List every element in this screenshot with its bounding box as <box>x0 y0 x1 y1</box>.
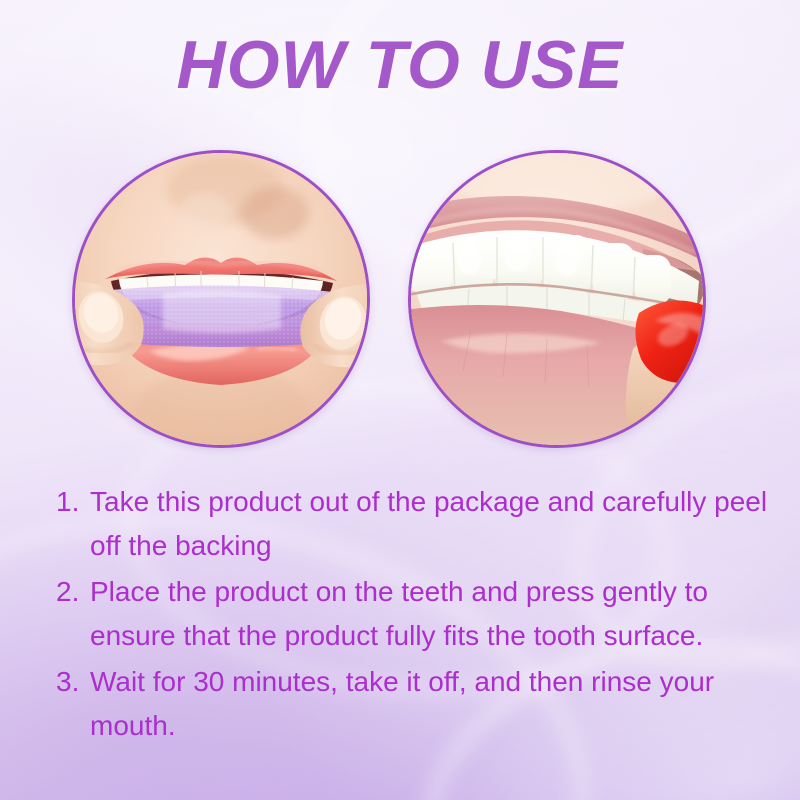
step-number: 2. <box>56 570 90 614</box>
instruction-steps-list: 1. Take this product out of the package … <box>56 480 768 750</box>
step-number: 3. <box>56 660 90 704</box>
whitening-strip-illustration <box>75 153 367 445</box>
list-item: 2. Place the product on the teeth and pr… <box>56 570 768 658</box>
step-text: Wait for 30 minutes, take it off, and th… <box>90 660 768 748</box>
step-number: 1. <box>56 480 90 524</box>
white-teeth-illustration <box>411 153 703 445</box>
page-title: HOW TO USE <box>0 26 800 104</box>
step-text: Place the product on the teeth and press… <box>90 570 768 658</box>
how-to-use-infographic: HOW TO USE <box>0 0 800 800</box>
list-item: 1. Take this product out of the package … <box>56 480 768 568</box>
list-item: 3. Wait for 30 minutes, take it off, and… <box>56 660 768 748</box>
photo-white-teeth-closeup <box>408 150 706 448</box>
step-text: Take this product out of the package and… <box>90 480 768 568</box>
photo-whitening-strip-applied <box>72 150 370 448</box>
